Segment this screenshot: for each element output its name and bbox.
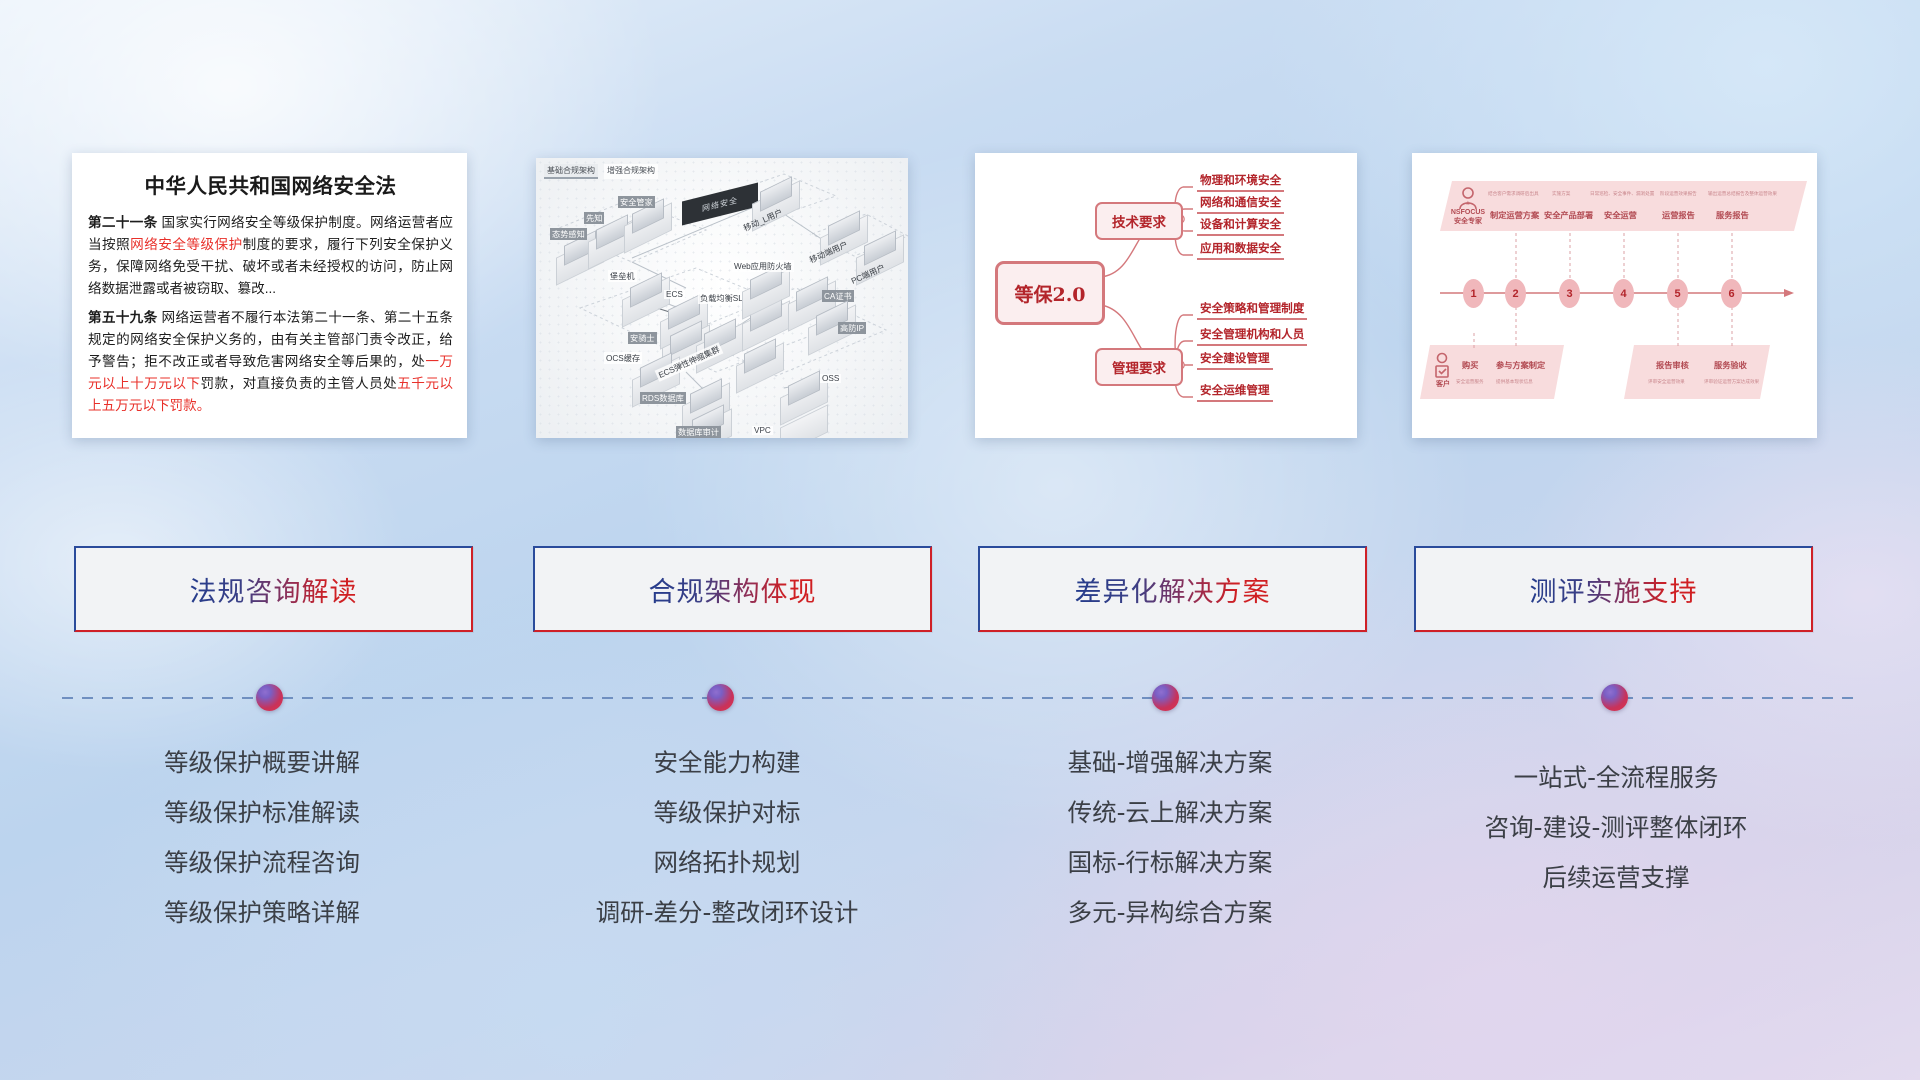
law-highlight-text: 网络安全等级保护 bbox=[130, 237, 242, 252]
law-body-text: 罚款，对直接负责的主管人员处 bbox=[200, 376, 397, 391]
section-button-regulation-consulting[interactable]: 法规咨询解读 bbox=[74, 546, 473, 632]
arch-node-label: 高防IP bbox=[838, 322, 866, 334]
list-item: 后续运营支撑 bbox=[1406, 853, 1826, 903]
section-button-evaluation-support[interactable]: 测评实施支持 bbox=[1414, 546, 1813, 632]
svg-text:★: ★ bbox=[1465, 200, 1470, 207]
law-paragraph-21: 第二十一条 国家实行网络安全等级保护制度。网络运营者应当按照网络安全等级保护制度… bbox=[88, 212, 453, 300]
mindmap-leaf: 应用和数据安全 bbox=[1197, 240, 1284, 260]
arch-node-label: Web应用防火墙 bbox=[732, 260, 794, 272]
list-item: 等级保护流程咨询 bbox=[62, 838, 462, 888]
timeline-expert-role-brand: NSFOCUS bbox=[1451, 209, 1485, 216]
mindmap-leaf: 网络和通信安全 bbox=[1197, 194, 1284, 214]
timeline-dot-3[interactable] bbox=[1152, 684, 1179, 711]
list-item: 等级保护概要讲解 bbox=[62, 738, 462, 788]
timeline-step-number: 5 bbox=[1667, 279, 1688, 308]
timeline-bottom-sub: 安全运营服务 bbox=[1456, 379, 1484, 385]
arch-node-label: OCS缓存 bbox=[604, 352, 642, 364]
mindmap-card: 等保2.0 技术要求 管理要求 物理和环境安全 网络和通信安全 设备和计算安全 … bbox=[975, 153, 1357, 438]
arch-node-ecs-scaling-2 bbox=[736, 354, 784, 382]
image-card-row: 中华人民共和国网络安全法 第二十一条 国家实行网络安全等级保护制度。网络运营者应… bbox=[0, 0, 1920, 450]
timeline-step-number: 4 bbox=[1613, 279, 1634, 308]
timeline-step-number: 3 bbox=[1559, 279, 1580, 308]
arch-node-label: 堡垒机 bbox=[608, 270, 637, 282]
list-item: 等级保护标准解读 bbox=[62, 788, 462, 838]
timeline-bottom-sub: 提供基本现状信息 bbox=[1496, 379, 1533, 385]
mindmap-leaf: 安全管理机构和人员 bbox=[1197, 326, 1307, 346]
timeline-top-main: 安全产品部署 bbox=[1544, 209, 1593, 221]
timeline-top-sub: 日常巡检、安全事件、漏洞处置 bbox=[1590, 191, 1654, 197]
timeline-customer-role: 客户 bbox=[1430, 379, 1456, 389]
law-paragraph-59: 第五十九条 网络运营者不履行本法第二十一条、第二十五条规定的网络安全保护义务的，… bbox=[88, 307, 453, 417]
arch-node-anti-ddos-ip: 高防IP bbox=[808, 316, 856, 344]
arch-node-vpc: VPC bbox=[780, 416, 828, 438]
list-item: 调研-差分-整改闭环设计 bbox=[522, 888, 932, 938]
mindmap-branch-technical: 技术要求 bbox=[1095, 202, 1183, 240]
section-list-compliance-architecture: 安全能力构建 等级保护对标 网络拓扑规划 调研-差分-整改闭环设计 bbox=[522, 738, 932, 938]
section-button-label: 差异化解决方案 bbox=[1075, 570, 1271, 609]
arch-node-waf: Web应用防火墙 bbox=[742, 280, 790, 308]
timeline-expert-role-title: 安全专家 bbox=[1454, 218, 1482, 225]
arch-tab-enhanced[interactable]: 增强合规架构 bbox=[604, 164, 658, 179]
mindmap-leaf: 安全策略和管理制度 bbox=[1197, 300, 1307, 320]
section-list-regulation-consulting: 等级保护概要讲解 等级保护标准解读 等级保护流程咨询 等级保护策略详解 bbox=[62, 738, 462, 938]
arch-node-label: 安骑士 bbox=[628, 332, 657, 344]
timeline-step-number: 6 bbox=[1721, 279, 1742, 308]
timeline-top-sub: 阶段运营效果报告 bbox=[1660, 191, 1697, 197]
timeline-top-sub: 输出运营总结报告及整体运营效果 bbox=[1708, 191, 1777, 197]
list-item: 一站式-全流程服务 bbox=[1406, 753, 1826, 803]
timeline-top-main: 服务报告 bbox=[1716, 209, 1749, 221]
mindmap-leaf: 安全运维管理 bbox=[1197, 382, 1273, 402]
list-item: 等级保护对标 bbox=[522, 788, 932, 838]
list-item: 基础-增强解决方案 bbox=[965, 738, 1375, 788]
timeline-dot-2[interactable] bbox=[707, 684, 734, 711]
arch-tab-group[interactable]: 基础合规架构 增强合规架构 bbox=[544, 164, 658, 179]
timeline-dot-4[interactable] bbox=[1601, 684, 1628, 711]
mindmap-leaf: 设备和计算安全 bbox=[1197, 216, 1284, 236]
timeline-bottom-main: 报告审核 bbox=[1656, 359, 1689, 371]
timeline-top-main: 安全运营 bbox=[1604, 209, 1637, 221]
section-list-differentiated-solution: 基础-增强解决方案 传统-云上解决方案 国标-行标解决方案 多元-异构综合方案 bbox=[965, 738, 1375, 938]
arch-node-pc-user: PC端用户 bbox=[856, 246, 904, 274]
timeline-top-sub: 实施方案 bbox=[1552, 191, 1570, 197]
architecture-canvas: 基础合规架构 增强合规架构 网络安全 态势感知 先知 安全管家 bbox=[536, 158, 908, 438]
section-button-label: 合规架构体现 bbox=[649, 570, 817, 609]
law-text-card: 中华人民共和国网络安全法 第二十一条 国家实行网络安全等级保护制度。网络运营者应… bbox=[72, 153, 467, 438]
list-item: 安全能力构建 bbox=[522, 738, 932, 788]
section-button-label: 法规咨询解读 bbox=[190, 570, 358, 609]
arch-tab-basic[interactable]: 基础合规架构 bbox=[544, 164, 598, 179]
timeline-bottom-main: 服务验收 bbox=[1714, 359, 1747, 371]
arch-node-label: VPC bbox=[752, 426, 773, 435]
list-item: 等级保护策略详解 bbox=[62, 888, 462, 938]
timeline-canvas: ★ 1 2 3 4 5 6 NSFOCUS bbox=[1412, 153, 1817, 438]
arch-node-security-butler: 安全管家 bbox=[624, 214, 672, 242]
arch-node-label: ECS bbox=[664, 290, 685, 299]
mindmap-leaf: 安全建设管理 bbox=[1197, 350, 1273, 370]
arch-node-label: 安全管家 bbox=[618, 196, 655, 208]
list-item: 国标-行标解决方案 bbox=[965, 838, 1375, 888]
arch-node-label: OSS bbox=[820, 374, 841, 383]
mindmap-canvas: 等保2.0 技术要求 管理要求 物理和环境安全 网络和通信安全 设备和计算安全 … bbox=[975, 153, 1357, 438]
timeline-bottom-sub: 评审验证运营方案达成效果 bbox=[1704, 379, 1759, 385]
timeline-expert-role: NSFOCUS 安全专家 bbox=[1440, 209, 1496, 226]
timeline-top-sub: 结合客户需求调研后出具 bbox=[1488, 191, 1539, 197]
law-card-title: 中华人民共和国网络安全法 bbox=[88, 169, 453, 199]
mindmap-branch-management: 管理要求 bbox=[1095, 348, 1183, 386]
mindmap-root-node: 等保2.0 bbox=[995, 261, 1105, 325]
timeline-step-number: 1 bbox=[1463, 279, 1484, 308]
architecture-diagram-card: 基础合规架构 增强合规架构 网络安全 态势感知 先知 安全管家 bbox=[536, 158, 908, 438]
section-button-differentiated-solution[interactable]: 差异化解决方案 bbox=[978, 546, 1367, 632]
timeline-dot-1[interactable] bbox=[256, 684, 283, 711]
timeline-top-main: 制定运营方案 bbox=[1490, 209, 1539, 221]
arch-node-label: CA证书 bbox=[822, 290, 854, 302]
timeline-bottom-sub: 评审安全运营效果 bbox=[1648, 379, 1685, 385]
section-button-label: 测评实施支持 bbox=[1530, 570, 1698, 609]
list-item: 多元-异构综合方案 bbox=[965, 888, 1375, 938]
service-timeline-card: ★ 1 2 3 4 5 6 NSFOCUS bbox=[1412, 153, 1817, 438]
list-item: 咨询-建设-测评整体闭环 bbox=[1406, 803, 1826, 853]
law-article-number: 第五十九条 bbox=[88, 310, 157, 325]
list-item: 网络拓扑规划 bbox=[522, 838, 932, 888]
law-article-number: 第二十一条 bbox=[88, 215, 157, 230]
arch-node-label: RDS数据库 bbox=[640, 392, 686, 404]
arch-node-label: 态势感知 bbox=[550, 228, 587, 240]
timeline-step-number: 2 bbox=[1505, 279, 1526, 308]
timeline-rail bbox=[62, 697, 1860, 699]
mindmap-leaf: 物理和环境安全 bbox=[1197, 172, 1284, 192]
list-item: 传统-云上解决方案 bbox=[965, 788, 1375, 838]
timeline-bottom-main: 参与方案制定 bbox=[1496, 359, 1545, 371]
arch-node-label: 数据库审计 bbox=[676, 426, 721, 438]
timeline-bottom-main: 购买 bbox=[1462, 359, 1478, 371]
timeline-top-main: 运营报告 bbox=[1662, 209, 1695, 221]
section-list-evaluation-support: 一站式-全流程服务 咨询-建设-测评整体闭环 后续运营支撑 bbox=[1406, 753, 1826, 903]
arch-node-mobile-l-user: 移动_L用户 bbox=[752, 192, 800, 220]
arch-node-database-audit: 数据库审计 bbox=[684, 420, 732, 438]
arch-node-label: 先知 bbox=[584, 212, 604, 224]
section-button-compliance-architecture[interactable]: 合规架构体现 bbox=[533, 546, 932, 632]
